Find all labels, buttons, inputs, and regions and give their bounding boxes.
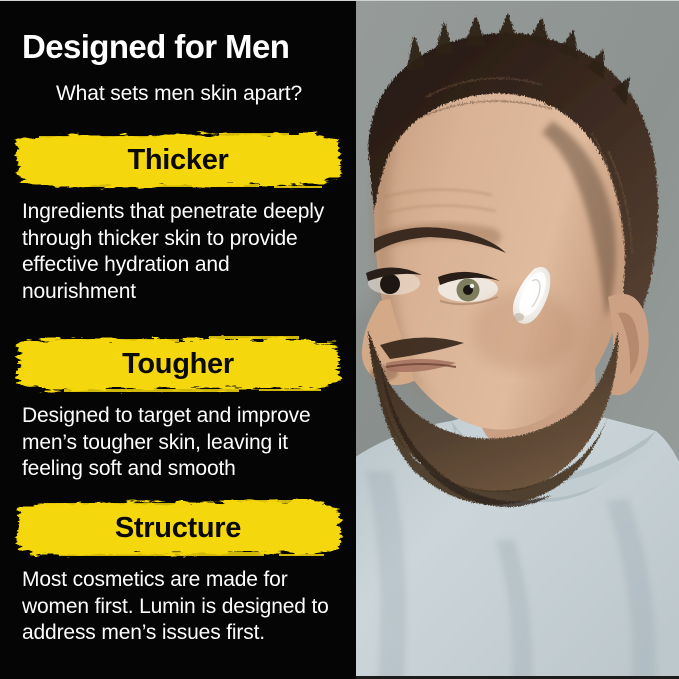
page-title: Designed for Men bbox=[22, 28, 340, 66]
banner-label-tougher: Tougher bbox=[9, 331, 347, 397]
banner-label-structure: Structure bbox=[9, 495, 347, 561]
info-panel: Designed for Men What sets men skin apar… bbox=[0, 1, 356, 679]
feature-body-tougher: Designed to target and improve men’s tou… bbox=[22, 403, 338, 483]
product-infographic: Designed for Men What sets men skin apar… bbox=[0, 0, 679, 679]
feature-thicker: Thicker Ingredients that penetrate deepl… bbox=[0, 127, 356, 305]
feature-body-thicker: Ingredients that penetrate deeply throug… bbox=[22, 199, 338, 305]
banner-tougher: Tougher bbox=[9, 331, 347, 397]
feature-structure: Structure Most cosmetics are made for wo… bbox=[0, 495, 356, 647]
feature-tougher: Tougher Designed to target and improve m… bbox=[0, 331, 356, 483]
banner-thicker: Thicker bbox=[9, 127, 347, 193]
banner-label-thicker: Thicker bbox=[9, 127, 347, 193]
man-portrait-illustration bbox=[356, 1, 679, 679]
banner-structure: Structure bbox=[9, 495, 347, 561]
page-subtitle: What sets men skin apart? bbox=[14, 81, 344, 107]
feature-body-structure: Most cosmetics are made for women first.… bbox=[22, 567, 338, 647]
product-photo bbox=[356, 1, 679, 679]
